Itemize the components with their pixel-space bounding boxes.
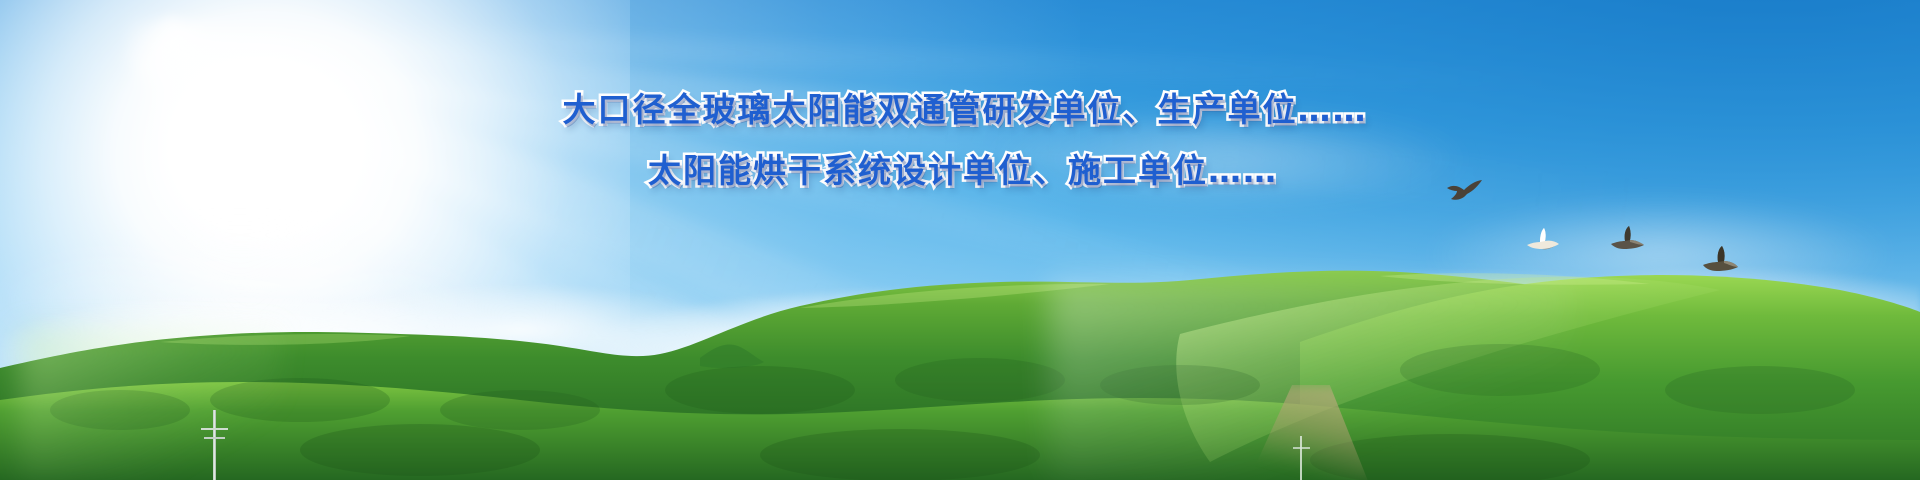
solar-hero-banner: 大口径全玻璃太阳能双通管研发单位、生产单位…… 太阳能烘干系统设计单位、施工单位… bbox=[0, 0, 1920, 480]
flying-birds bbox=[0, 0, 1920, 480]
bird-icon-4 bbox=[1700, 245, 1740, 273]
bird-icon-2 bbox=[1525, 227, 1561, 251]
bird-icon-1 bbox=[1445, 178, 1485, 204]
bird-icon-3 bbox=[1608, 225, 1646, 251]
